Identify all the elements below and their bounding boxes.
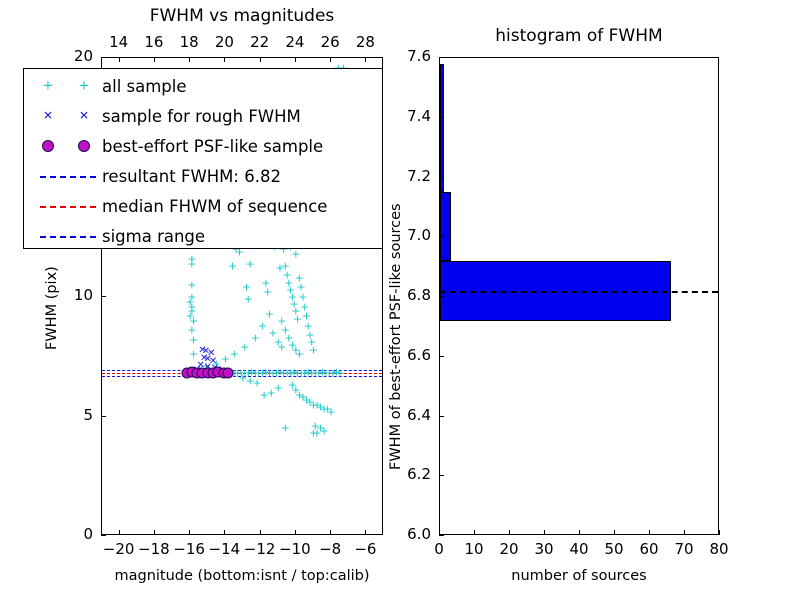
scatter-bottom-tick-label: −16	[173, 540, 205, 558]
scatter-top-tick-label: 28	[356, 33, 375, 51]
scatter-point-rough-fwhm: ✕	[198, 346, 206, 356]
scatter-point-rough-fwhm: ✕	[193, 366, 201, 376]
scatter-title: FWHM vs magnitudes	[101, 6, 383, 26]
axis-tick	[224, 530, 225, 535]
axis-tick	[101, 296, 106, 297]
scatter-point-all-sample: +	[267, 387, 276, 398]
axis-tick	[614, 530, 615, 535]
scatter-point-all-sample: +	[323, 404, 332, 415]
axis-tick	[260, 530, 261, 535]
axis-tick	[330, 530, 331, 535]
scatter-point-all-sample: +	[290, 299, 299, 310]
dot-icon	[42, 140, 54, 152]
scatter-point-all-sample: +	[274, 337, 283, 348]
scatter-point-all-sample: +	[186, 296, 195, 307]
scatter-bottom-tick-label: −14	[209, 540, 241, 558]
axis-tick	[439, 117, 444, 118]
dot-icon	[78, 140, 90, 152]
legend-marker: ++	[32, 71, 102, 101]
legend-label: sample for rough FWHM	[102, 107, 301, 126]
scatter-point-all-sample: +	[221, 354, 230, 365]
histogram-y-tick-label: 6.2	[407, 465, 431, 483]
scatter-point-all-sample: +	[298, 392, 307, 403]
scatter-reference-line	[102, 373, 382, 374]
legend-label: sigma range	[102, 227, 205, 246]
scatter-point-all-sample: +	[311, 421, 320, 432]
scatter-point-rough-fwhm: ✕	[209, 357, 217, 367]
scatter-reference-line	[102, 370, 382, 371]
scatter-point-all-sample: +	[295, 349, 304, 360]
histogram-y-tick-label: 6.6	[407, 346, 431, 364]
scatter-y-tick-label: 0	[83, 525, 93, 543]
scatter-point-all-sample: +	[286, 284, 295, 295]
histogram-axes-frame	[439, 57, 719, 535]
scatter-point-all-sample: +	[291, 344, 300, 355]
axis-tick	[439, 177, 444, 178]
scatter-top-tick-label: 26	[321, 33, 340, 51]
axis-tick	[439, 416, 444, 417]
scatter-point-all-sample: +	[305, 397, 314, 408]
scatter-top-tick-label: 18	[180, 33, 199, 51]
scatter-point-all-sample: +	[245, 258, 254, 269]
scatter-point-all-sample: +	[305, 330, 314, 341]
axis-tick	[295, 57, 296, 62]
scatter-point-all-sample: +	[281, 325, 290, 336]
scatter-point-rough-fwhm: ✕	[200, 354, 208, 364]
scatter-y-tick-label: 5	[83, 406, 93, 424]
histogram-title: histogram of FWHM	[439, 26, 719, 46]
scatter-point-all-sample: +	[277, 315, 286, 326]
axis-tick	[439, 296, 444, 297]
scatter-point-all-sample: +	[189, 349, 198, 360]
legend-marker: ✕✕	[32, 101, 102, 131]
axis-tick	[649, 530, 650, 535]
scatter-point-all-sample: +	[275, 263, 284, 274]
dashed-line-icon	[40, 206, 96, 208]
scatter-point-all-sample: +	[187, 258, 196, 269]
scatter-point-all-sample: +	[307, 337, 316, 348]
legend-marker	[32, 221, 102, 251]
legend: ++all sample✕✕sample for rough FWHMbest-…	[23, 68, 383, 249]
legend-label: best-effort PSF-like sample	[102, 137, 323, 156]
histogram-panel: histogram of FWHM 01020304050607080 6.06…	[400, 0, 800, 600]
histogram-y-tick-label: 7.6	[407, 47, 431, 65]
legend-marker	[32, 161, 102, 191]
scatter-point-all-sample: +	[302, 394, 311, 405]
axis-tick	[101, 57, 106, 58]
legend-item: median FHWM of sequence	[32, 191, 382, 221]
scatter-point-all-sample: +	[284, 332, 293, 343]
scatter-point-rough-fwhm: ✕	[214, 366, 222, 376]
legend-label: median FHWM of sequence	[102, 197, 327, 216]
scatter-point-all-sample: +	[274, 382, 283, 393]
scatter-point-all-sample: +	[319, 404, 328, 415]
histogram-median-line	[440, 291, 718, 293]
legend-item: resultant FWHM: 6.82	[32, 161, 382, 191]
axis-tick	[101, 416, 106, 417]
scatter-point-all-sample: +	[212, 358, 221, 369]
scatter-point-rough-fwhm: ✕	[202, 347, 210, 357]
axis-tick	[439, 236, 444, 237]
scatter-point-all-sample: +	[319, 425, 328, 436]
scatter-bottom-tick-label: −12	[244, 540, 276, 558]
scatter-point-all-sample: +	[309, 428, 318, 439]
axis-tick	[439, 57, 444, 58]
scatter-top-tick-label: 22	[250, 33, 269, 51]
scatter-y-tick-label: 10	[74, 286, 93, 304]
scatter-bottom-tick-label: −18	[138, 540, 170, 558]
axis-tick	[154, 530, 155, 535]
scatter-point-all-sample: +	[293, 313, 302, 324]
scatter-point-all-sample: +	[284, 277, 293, 288]
scatter-point-all-sample: +	[277, 342, 286, 353]
scatter-point-all-sample: +	[302, 311, 311, 322]
legend-label: resultant FWHM: 6.82	[102, 167, 281, 186]
scatter-point-all-sample: +	[291, 385, 300, 396]
scatter-point-all-sample: +	[268, 327, 277, 338]
scatter-point-all-sample: +	[309, 344, 318, 355]
scatter-point-all-sample: +	[258, 320, 267, 331]
axis-tick	[101, 535, 106, 536]
histogram-x-tick-label: 80	[709, 540, 728, 558]
scatter-point-all-sample: +	[187, 301, 196, 312]
axis-tick	[154, 57, 155, 62]
legend-item: best-effort PSF-like sample	[32, 131, 382, 161]
axis-tick	[544, 530, 545, 535]
histogram-x-tick-label: 30	[534, 540, 553, 558]
scatter-top-tick-label: 24	[285, 33, 304, 51]
legend-label: all sample	[102, 77, 187, 96]
scatter-top-tick-label: 20	[215, 33, 234, 51]
axis-tick	[260, 57, 261, 62]
scatter-top-tick-label: 16	[144, 33, 163, 51]
scatter-xlabel: magnitude (bottom:isnt / top:calib)	[101, 568, 383, 584]
scatter-point-all-sample: +	[189, 335, 198, 346]
axis-tick	[509, 530, 510, 535]
scatter-point-all-sample: +	[288, 380, 297, 391]
scatter-point-all-sample: +	[295, 272, 304, 283]
scatter-point-all-sample: +	[244, 294, 253, 305]
legend-item: ✕✕sample for rough FWHM	[32, 101, 382, 131]
scatter-point-all-sample: +	[288, 292, 297, 303]
legend-marker	[32, 131, 102, 161]
dash-dot-line-icon	[40, 236, 96, 238]
scatter-top-tick-label: 14	[109, 33, 128, 51]
scatter-point-all-sample: +	[238, 373, 247, 384]
scatter-point-all-sample: +	[281, 423, 290, 434]
scatter-point-all-sample: +	[187, 292, 196, 303]
scatter-point-all-sample: +	[297, 282, 306, 293]
scatter-bottom-tick-label: −6	[354, 540, 376, 558]
scatter-bottom-tick-label: −10	[279, 540, 311, 558]
scatter-point-all-sample: +	[291, 306, 300, 317]
axis-tick	[224, 57, 225, 62]
dashed-line-icon	[40, 176, 96, 178]
legend-item: sigma range	[32, 221, 382, 251]
scatter-point-all-sample: +	[281, 260, 290, 271]
histogram-y-tick-label: 7.0	[407, 226, 431, 244]
axis-tick	[684, 530, 685, 535]
legend-item: ++all sample	[32, 71, 382, 101]
scatter-ylabel: FWHM (pix)	[44, 266, 60, 350]
scatter-reference-line	[102, 376, 382, 377]
axis-tick	[474, 530, 475, 535]
histogram-ylabel: FWHM of best-effort PSF-like sources	[388, 203, 404, 470]
histogram-bar	[440, 64, 444, 192]
scatter-point-rough-fwhm: ✕	[204, 355, 212, 365]
scatter-point-all-sample: +	[327, 406, 336, 417]
histogram-x-tick-label: 20	[499, 540, 518, 558]
axis-tick	[189, 530, 190, 535]
scatter-point-all-sample: +	[265, 308, 274, 319]
cross-icon: ✕	[43, 110, 53, 123]
cross-icon: ✕	[79, 110, 89, 123]
scatter-point-all-sample: +	[228, 260, 237, 271]
axis-tick	[189, 57, 190, 62]
scatter-point-all-sample: +	[187, 325, 196, 336]
scatter-point-rough-fwhm: ✕	[204, 363, 212, 373]
figure-canvas: FWHM vs magnitudes 1416182022242628 −20−…	[0, 0, 800, 600]
scatter-point-all-sample: +	[187, 280, 196, 291]
scatter-point-all-sample: +	[312, 399, 321, 410]
scatter-point-all-sample: +	[304, 320, 313, 331]
scatter-point-all-sample: +	[316, 423, 325, 434]
axis-tick	[439, 535, 444, 536]
scatter-point-all-sample: +	[309, 399, 318, 410]
axis-tick	[439, 356, 444, 357]
histogram-y-tick-label: 7.4	[407, 107, 431, 125]
legend-marker	[32, 191, 102, 221]
scatter-point-all-sample: +	[242, 282, 251, 293]
histogram-x-tick-label: 0	[434, 540, 444, 558]
axis-tick	[579, 530, 580, 535]
axis-tick	[330, 57, 331, 62]
axis-tick	[365, 530, 366, 535]
axis-tick	[439, 475, 444, 476]
scatter-point-all-sample: +	[298, 292, 307, 303]
scatter-point-all-sample: +	[263, 287, 272, 298]
scatter-point-all-sample: +	[300, 301, 309, 312]
scatter-point-all-sample: +	[261, 277, 270, 288]
histogram-x-tick-label: 60	[639, 540, 658, 558]
histogram-bar	[440, 192, 451, 261]
scatter-point-all-sample: +	[260, 389, 269, 400]
scatter-point-all-sample: +	[230, 349, 239, 360]
histogram-y-tick-label: 6.4	[407, 406, 431, 424]
scatter-point-all-sample: +	[186, 311, 195, 322]
axis-tick	[119, 57, 120, 62]
scatter-point-all-sample: +	[240, 342, 249, 353]
scatter-point-all-sample: +	[312, 428, 321, 439]
scatter-point-all-sample: +	[189, 315, 198, 326]
plus-icon: +	[43, 80, 54, 93]
scatter-point-rough-fwhm: ✕	[207, 349, 215, 359]
scatter-point-all-sample: +	[288, 339, 297, 350]
scatter-point-all-sample: +	[187, 253, 196, 264]
scatter-y-tick-label: 20	[74, 47, 93, 65]
plus-icon: +	[79, 80, 90, 93]
axis-tick	[719, 530, 720, 535]
scatter-point-all-sample: +	[295, 389, 304, 400]
scatter-point-all-sample: +	[316, 401, 325, 412]
histogram-x-tick-label: 50	[604, 540, 623, 558]
scatter-bottom-tick-label: −20	[103, 540, 135, 558]
scatter-point-all-sample: +	[282, 270, 291, 281]
axis-tick	[119, 530, 120, 535]
scatter-point-all-sample: +	[251, 332, 260, 343]
histogram-x-tick-label: 70	[674, 540, 693, 558]
scatter-point-all-sample: +	[184, 366, 193, 377]
axis-tick	[365, 57, 366, 62]
scatter-bottom-tick-label: −8	[319, 540, 341, 558]
histogram-x-tick-label: 40	[569, 540, 588, 558]
histogram-y-tick-label: 6.8	[407, 286, 431, 304]
histogram-xlabel: number of sources	[439, 568, 719, 584]
axis-tick	[295, 530, 296, 535]
histogram-x-tick-label: 10	[464, 540, 483, 558]
histogram-y-tick-label: 6.0	[407, 525, 431, 543]
histogram-y-tick-label: 7.2	[407, 167, 431, 185]
scatter-point-all-sample: +	[187, 306, 196, 317]
scatter-point-all-sample: +	[252, 378, 261, 389]
